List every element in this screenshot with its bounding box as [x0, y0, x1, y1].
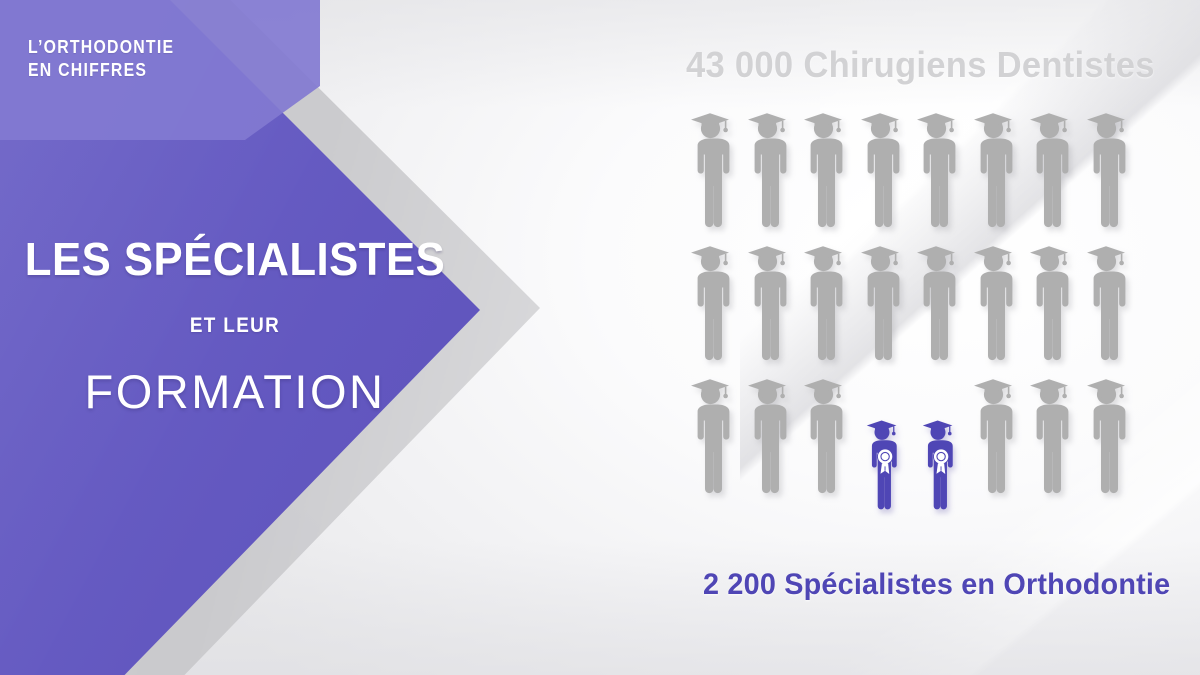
pictogram-figure-dentist [1086, 243, 1130, 361]
series-banner-text: L’ORTHODONTIE EN CHIFFRES [28, 36, 248, 82]
pictogram-figure-orthodontist [922, 418, 956, 510]
pictogram-figure-dentist [803, 243, 847, 361]
pictogram-grid [690, 110, 1140, 570]
pictogram-figure-dentist [747, 110, 791, 228]
pictogram-row [690, 243, 1140, 373]
pictogram-figure-dentist [973, 243, 1017, 361]
pictogram-figure-dentist [973, 110, 1017, 228]
infographic-slide: L’ORTHODONTIE EN CHIFFRES LES SPÉCIALIST… [0, 0, 1200, 675]
page-title-secondary: FORMATION [0, 364, 470, 419]
pictogram-figure-dentist [973, 376, 1017, 494]
pictogram-figure-dentist [1029, 376, 1073, 494]
orthodontists-total-label: 2 200 Spécialistes en Orthodontie [703, 568, 1170, 602]
banner-line-2: EN CHIFFRES [28, 59, 248, 82]
pictogram-figure-dentist [803, 376, 847, 494]
pictogram-figure-dentist [690, 243, 734, 361]
title-block: LES SPÉCIALISTES ET LEUR FORMATION [0, 232, 470, 419]
pictogram-row [690, 376, 1140, 506]
pictogram-figure-dentist [1029, 243, 1073, 361]
pictogram-row [690, 110, 1140, 240]
pictogram-figure-dentist [690, 110, 734, 228]
page-subtitle: ET LEUR [24, 314, 447, 338]
pictogram-figure-dentist [916, 110, 960, 228]
pictogram-figure-dentist [747, 376, 791, 494]
pictogram-figure-dentist [1086, 376, 1130, 494]
pictogram-figure-dentist [690, 376, 734, 494]
pictogram-figure-orthodontist [866, 418, 900, 510]
pictogram-figure-dentist [916, 243, 960, 361]
pictogram-figure-dentist [747, 243, 791, 361]
page-title: LES SPÉCIALISTES [12, 232, 459, 286]
pictogram-figure-dentist [860, 243, 904, 361]
pictogram-figure-dentist [803, 110, 847, 228]
dentists-total-label: 43 000 Chirugiens Dentistes [686, 44, 1155, 86]
pictogram-figure-dentist [1086, 110, 1130, 228]
banner-line-1: L’ORTHODONTIE [28, 36, 248, 59]
pictogram-figure-dentist [1029, 110, 1073, 228]
pictogram-figure-dentist [860, 110, 904, 228]
